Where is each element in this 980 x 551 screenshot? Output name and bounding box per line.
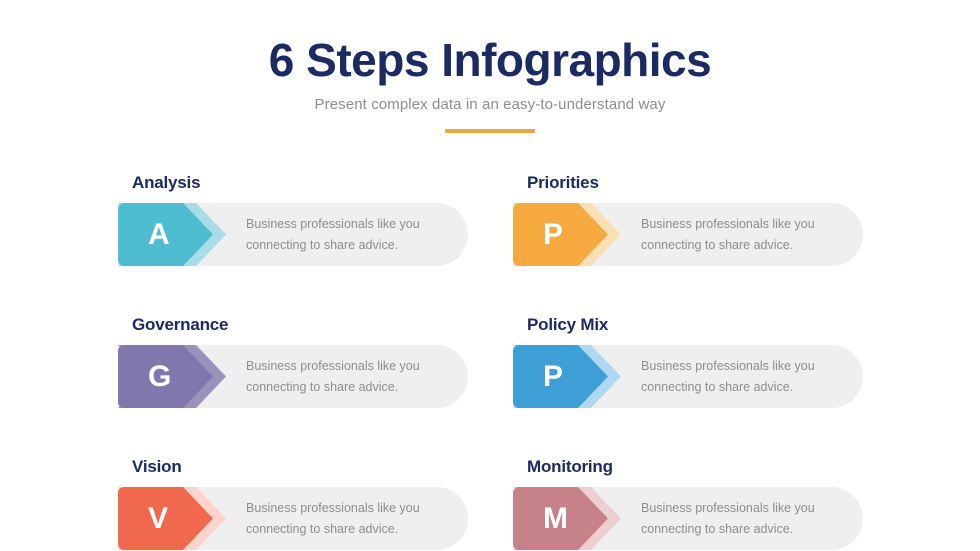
step-card-policy-mix[interactable]: Policy Mix P Business professionals like… — [513, 316, 863, 408]
step-letter: M — [543, 504, 568, 534]
step-card-monitoring[interactable]: Monitoring M Business professionals like… — [513, 458, 863, 550]
step-card-body: V Business professionals like you connec… — [118, 487, 468, 550]
step-label: Monitoring — [527, 458, 863, 475]
page-subtitle: Present complex data in an easy-to-under… — [0, 84, 980, 113]
step-label: Analysis — [132, 174, 468, 191]
step-card-priorities[interactable]: Priorities P Business professionals like… — [513, 174, 863, 266]
step-description: Business professionals like you connecti… — [246, 345, 456, 408]
step-description: Business professionals like you connecti… — [246, 487, 456, 550]
slide-header: 6 Steps Infographics Present complex dat… — [0, 36, 980, 133]
step-letter: G — [148, 362, 171, 392]
step-card-body: G Business professionals like you connec… — [118, 345, 468, 408]
step-label: Governance — [132, 316, 468, 333]
step-letter: P — [543, 362, 563, 392]
step-letter: V — [148, 504, 168, 534]
step-card-body: M Business professionals like you connec… — [513, 487, 863, 550]
steps-row: Vision V Business professionals like you… — [118, 458, 908, 550]
step-card-body: P Business professionals like you connec… — [513, 345, 863, 408]
step-card-analysis[interactable]: Analysis A Business professionals like y… — [118, 174, 468, 266]
step-label: Policy Mix — [527, 316, 863, 333]
step-description: Business professionals like you connecti… — [641, 487, 851, 550]
steps-row: Governance G Business professionals like… — [118, 316, 908, 408]
step-letter: A — [148, 220, 170, 250]
page-title: 6 Steps Infographics — [0, 36, 980, 84]
steps-grid: Analysis A Business professionals like y… — [118, 174, 908, 550]
step-description: Business professionals like you connecti… — [246, 203, 456, 266]
step-description: Business professionals like you connecti… — [641, 345, 851, 408]
steps-row: Analysis A Business professionals like y… — [118, 174, 908, 266]
step-card-vision[interactable]: Vision V Business professionals like you… — [118, 458, 468, 550]
step-card-body: P Business professionals like you connec… — [513, 203, 863, 266]
step-label: Priorities — [527, 174, 863, 191]
step-label: Vision — [132, 458, 468, 475]
slide-canvas: 6 Steps Infographics Present complex dat… — [0, 0, 980, 551]
step-description: Business professionals like you connecti… — [641, 203, 851, 266]
step-card-governance[interactable]: Governance G Business professionals like… — [118, 316, 468, 408]
step-card-body: A Business professionals like you connec… — [118, 203, 468, 266]
title-divider — [445, 129, 535, 133]
step-letter: P — [543, 220, 563, 250]
